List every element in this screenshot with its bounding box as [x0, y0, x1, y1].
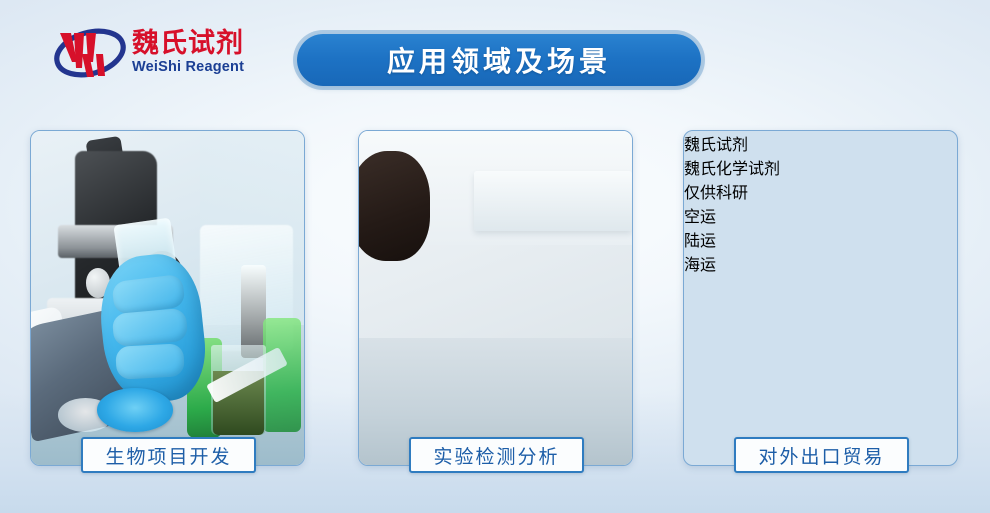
badge-land-freight: 陆运 [684, 227, 957, 251]
badge-land-label: 陆运 [684, 233, 716, 250]
badge-air-freight: 空运 [684, 203, 957, 227]
card-3-image: 魏氏试剂 魏氏化学试剂 仅供科研 空运 陆运 海运 [684, 131, 957, 465]
bottle-label-line1: 魏氏化学试剂 [684, 155, 957, 179]
card-label-bio-project-development: 生物项目开发 [81, 437, 256, 473]
card-2-label-text: 实验检测分析 [433, 442, 559, 469]
reagent-bottle: 魏氏试剂 魏氏化学试剂 仅供科研 [684, 131, 957, 203]
card-export-trade[interactable]: 魏氏试剂 魏氏化学试剂 仅供科研 空运 陆运 海运 [683, 130, 958, 466]
badge-sea-label: 海运 [684, 257, 716, 274]
card-1-image [31, 131, 304, 465]
card-label-lab-testing-analysis: 实验检测分析 [409, 437, 584, 473]
card-bio-project-development[interactable] [30, 130, 305, 466]
card-2-image [359, 131, 632, 465]
bottle-label-line2: 仅供科研 [684, 179, 957, 203]
card-lab-testing-analysis[interactable] [358, 130, 633, 466]
card-3-label-text: 对外出口贸易 [758, 442, 884, 469]
badge-sea-freight: 海运 [684, 251, 957, 275]
badge-air-label: 空运 [684, 209, 716, 226]
card-1-label-text: 生物项目开发 [105, 442, 231, 469]
application-scenario-cards: 魏氏试剂 魏氏化学试剂 仅供科研 空运 陆运 海运 生物项目开发 [0, 0, 990, 513]
card-label-export-trade: 对外出口贸易 [734, 437, 909, 473]
bottle-logo-text: 魏氏试剂 [684, 131, 957, 155]
